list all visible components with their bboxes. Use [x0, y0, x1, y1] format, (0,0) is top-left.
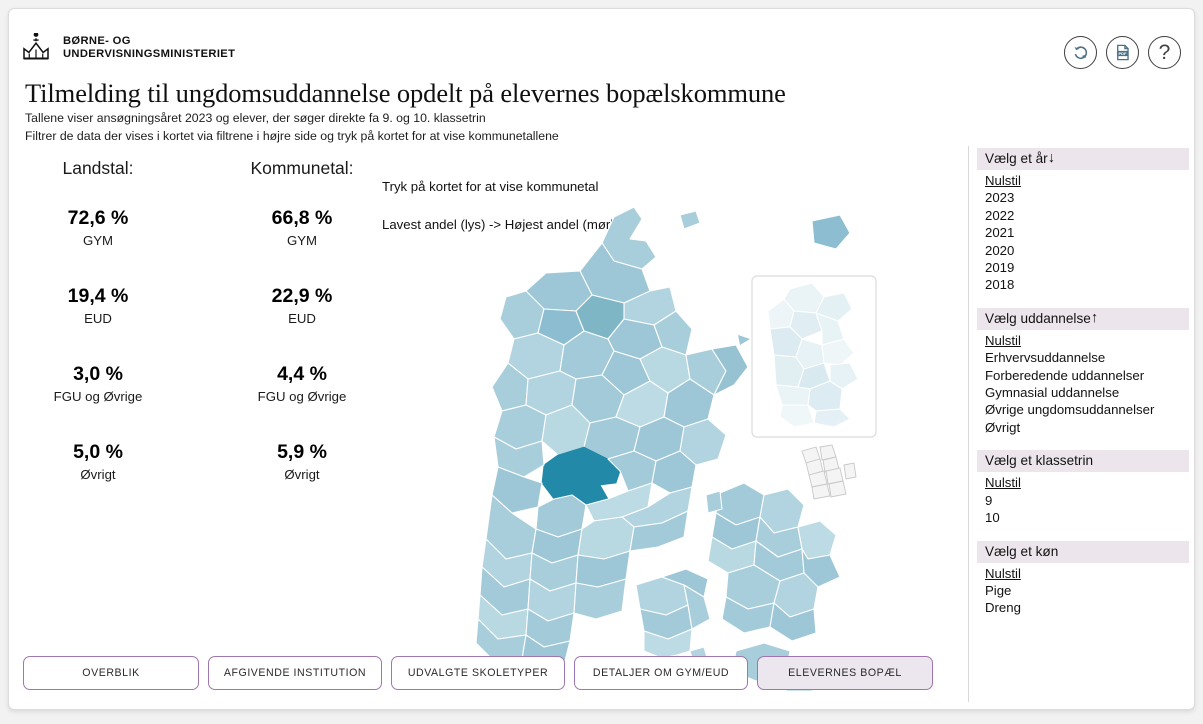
stat-item: 66,8 % GYM [227, 206, 377, 250]
stat-value: 22,9 % [227, 284, 377, 308]
pane-divider [968, 146, 969, 702]
danish-crown-icon [18, 33, 54, 63]
filter-option[interactable]: Erhvervsuddannelse [985, 349, 1189, 366]
map-hint-line-1: Tryk på kortet for at vise kommunetal [382, 177, 621, 196]
stat-value: 4,4 % [227, 362, 377, 386]
copenhagen-inset [752, 276, 876, 437]
stat-value: 66,8 % [227, 206, 377, 230]
app-header: BØRNE- OG UNDERVISNINGSMINISTERIET PDF [9, 9, 1194, 71]
stat-label: EUD [23, 309, 173, 328]
filter-group-grade: Vælg et klassetrin Nulstil 9 10 [977, 450, 1189, 526]
filter-title: Vælg et køn [985, 542, 1058, 561]
page-subtitle-2: Filtrer de data der vises i kortet via f… [25, 128, 1194, 145]
statistics-panel: Landstal: 72,6 % GYM 19,4 % EUD 3,0 % FG… [23, 158, 377, 518]
tab-bar: OVERBLIK AFGIVENDE INSTITUTION UDVALGTE … [9, 636, 961, 710]
ministry-line-2: UNDERVISNINGSMINISTERIET [63, 48, 235, 62]
stat-column-municipal: Kommunetal: 66,8 % GYM 22,9 % EUD 4,4 % … [227, 158, 377, 518]
stat-item: 5,0 % Øvrigt [23, 440, 173, 484]
stat-item: 72,6 % GYM [23, 206, 173, 250]
filter-title: Vælg et klassetrin [985, 451, 1093, 470]
stat-item: 3,0 % FGU og Øvrige [23, 362, 173, 406]
filter-panel: Vælg et år ↓ Nulstil 2023 2022 2021 2020… [977, 148, 1189, 631]
stat-label: GYM [227, 231, 377, 250]
denmark-choropleth-map[interactable] [464, 199, 884, 699]
stat-column-national: Landstal: 72,6 % GYM 19,4 % EUD 3,0 % FG… [23, 158, 173, 518]
stat-column-heading: Landstal: [23, 158, 173, 179]
filter-option-reset[interactable]: Nulstil [985, 332, 1189, 349]
ministry-name: BØRNE- OG UNDERVISNINGSMINISTERIET [63, 35, 235, 62]
reset-icon[interactable] [1064, 36, 1097, 69]
stat-label: FGU og Øvrige [227, 387, 377, 406]
page-title: Tilmelding til ungdomsuddannelse opdelt … [25, 77, 1194, 109]
tab-afgivende-institution[interactable]: AFGIVENDE INSTITUTION [208, 656, 382, 690]
title-block: Tilmelding til ungdomsuddannelse opdelt … [9, 71, 1194, 144]
visualization-pane: Landstal: 72,6 % GYM 19,4 % EUD 3,0 % FG… [9, 144, 961, 710]
filter-header[interactable]: Vælg et køn [977, 541, 1189, 563]
filter-option[interactable]: 2018 [985, 276, 1189, 293]
stat-value: 72,6 % [23, 206, 173, 230]
tab-detaljer-om-gym-eud[interactable]: DETALJER OM GYM/EUD [574, 656, 748, 690]
tab-overblik[interactable]: OVERBLIK [23, 656, 199, 690]
stat-value: 5,9 % [227, 440, 377, 464]
filter-title: Vælg et år [985, 149, 1048, 168]
stat-label: GYM [23, 231, 173, 250]
stat-label: FGU og Øvrige [23, 387, 173, 406]
stat-item: 22,9 % EUD [227, 284, 377, 328]
filter-header[interactable]: Vælg et klassetrin [977, 450, 1189, 472]
help-icon[interactable]: ? [1148, 36, 1181, 69]
stat-value: 5,0 % [23, 440, 173, 464]
stat-value: 19,4 % [23, 284, 173, 308]
filter-option[interactable]: 2020 [985, 242, 1189, 259]
filter-options: Nulstil Erhvervsuddannelse Forberedende … [977, 330, 1189, 436]
stat-item: 4,4 % FGU og Øvrige [227, 362, 377, 406]
stat-value: 3,0 % [23, 362, 173, 386]
stat-label: EUD [227, 309, 377, 328]
stat-label: Øvrigt [23, 465, 173, 484]
stat-label: Øvrigt [227, 465, 377, 484]
filter-option[interactable]: 2022 [985, 207, 1189, 224]
sort-ascending-icon[interactable]: ↑ [1091, 309, 1098, 328]
dashboard-body: Landstal: 72,6 % GYM 19,4 % EUD 3,0 % FG… [9, 144, 1194, 710]
filter-header[interactable]: Vælg et år ↓ [977, 148, 1189, 170]
filter-group-gender: Vælg et køn Nulstil Pige Dreng [977, 541, 1189, 617]
ministry-line-1: BØRNE- OG [63, 35, 235, 49]
ministry-logo: BØRNE- OG UNDERVISNINGSMINISTERIET [18, 33, 235, 63]
filter-option[interactable]: 2021 [985, 224, 1189, 241]
header-actions: PDF ? [1064, 36, 1181, 69]
dashboard-card: BØRNE- OG UNDERVISNINGSMINISTERIET PDF [8, 8, 1195, 710]
filter-option[interactable]: Øvrige ungdomsuddannelser [985, 401, 1189, 418]
tab-udvalgte-skoletyper[interactable]: UDVALGTE SKOLETYPER [391, 656, 565, 690]
filter-option[interactable]: 10 [985, 509, 1189, 526]
svg-text:PDF: PDF [1118, 51, 1127, 56]
filter-option-reset[interactable]: Nulstil [985, 474, 1189, 491]
stat-column-heading: Kommunetal: [227, 158, 377, 179]
filter-option[interactable]: Øvrigt [985, 419, 1189, 436]
filter-option-reset[interactable]: Nulstil [985, 172, 1189, 189]
filter-option[interactable]: 9 [985, 492, 1189, 509]
stat-item: 19,4 % EUD [23, 284, 173, 328]
filter-option[interactable]: Gymnasial uddannelse [985, 384, 1189, 401]
copenhagen-cluster [802, 445, 856, 499]
tab-elevernes-bopael[interactable]: ELEVERNES BOPÆL [757, 656, 933, 690]
filter-title: Vælg uddannelse [985, 309, 1091, 328]
filter-option[interactable]: Pige [985, 582, 1189, 599]
stat-item: 5,9 % Øvrigt [227, 440, 377, 484]
sort-descending-icon[interactable]: ↓ [1048, 149, 1055, 168]
filter-options: Nulstil 9 10 [977, 472, 1189, 526]
page-subtitle-1: Tallene viser ansøgningsåret 2023 og ele… [25, 110, 1194, 127]
filter-option[interactable]: Dreng [985, 599, 1189, 616]
filter-option[interactable]: Forberedende uddannelser [985, 367, 1189, 384]
pdf-download-icon[interactable]: PDF [1106, 36, 1139, 69]
filter-option[interactable]: 2023 [985, 189, 1189, 206]
filter-header[interactable]: Vælg uddannelse ↑ [977, 308, 1189, 330]
filter-option-reset[interactable]: Nulstil [985, 565, 1189, 582]
filter-group-year: Vælg et år ↓ Nulstil 2023 2022 2021 2020… [977, 148, 1189, 294]
filter-option[interactable]: 2019 [985, 259, 1189, 276]
filter-options: Nulstil 2023 2022 2021 2020 2019 2018 [977, 170, 1189, 294]
filter-group-education: Vælg uddannelse ↑ Nulstil Erhvervsuddann… [977, 308, 1189, 436]
filter-options: Nulstil Pige Dreng [977, 563, 1189, 617]
inset-pointer [738, 335, 750, 345]
help-glyph: ? [1159, 42, 1171, 63]
